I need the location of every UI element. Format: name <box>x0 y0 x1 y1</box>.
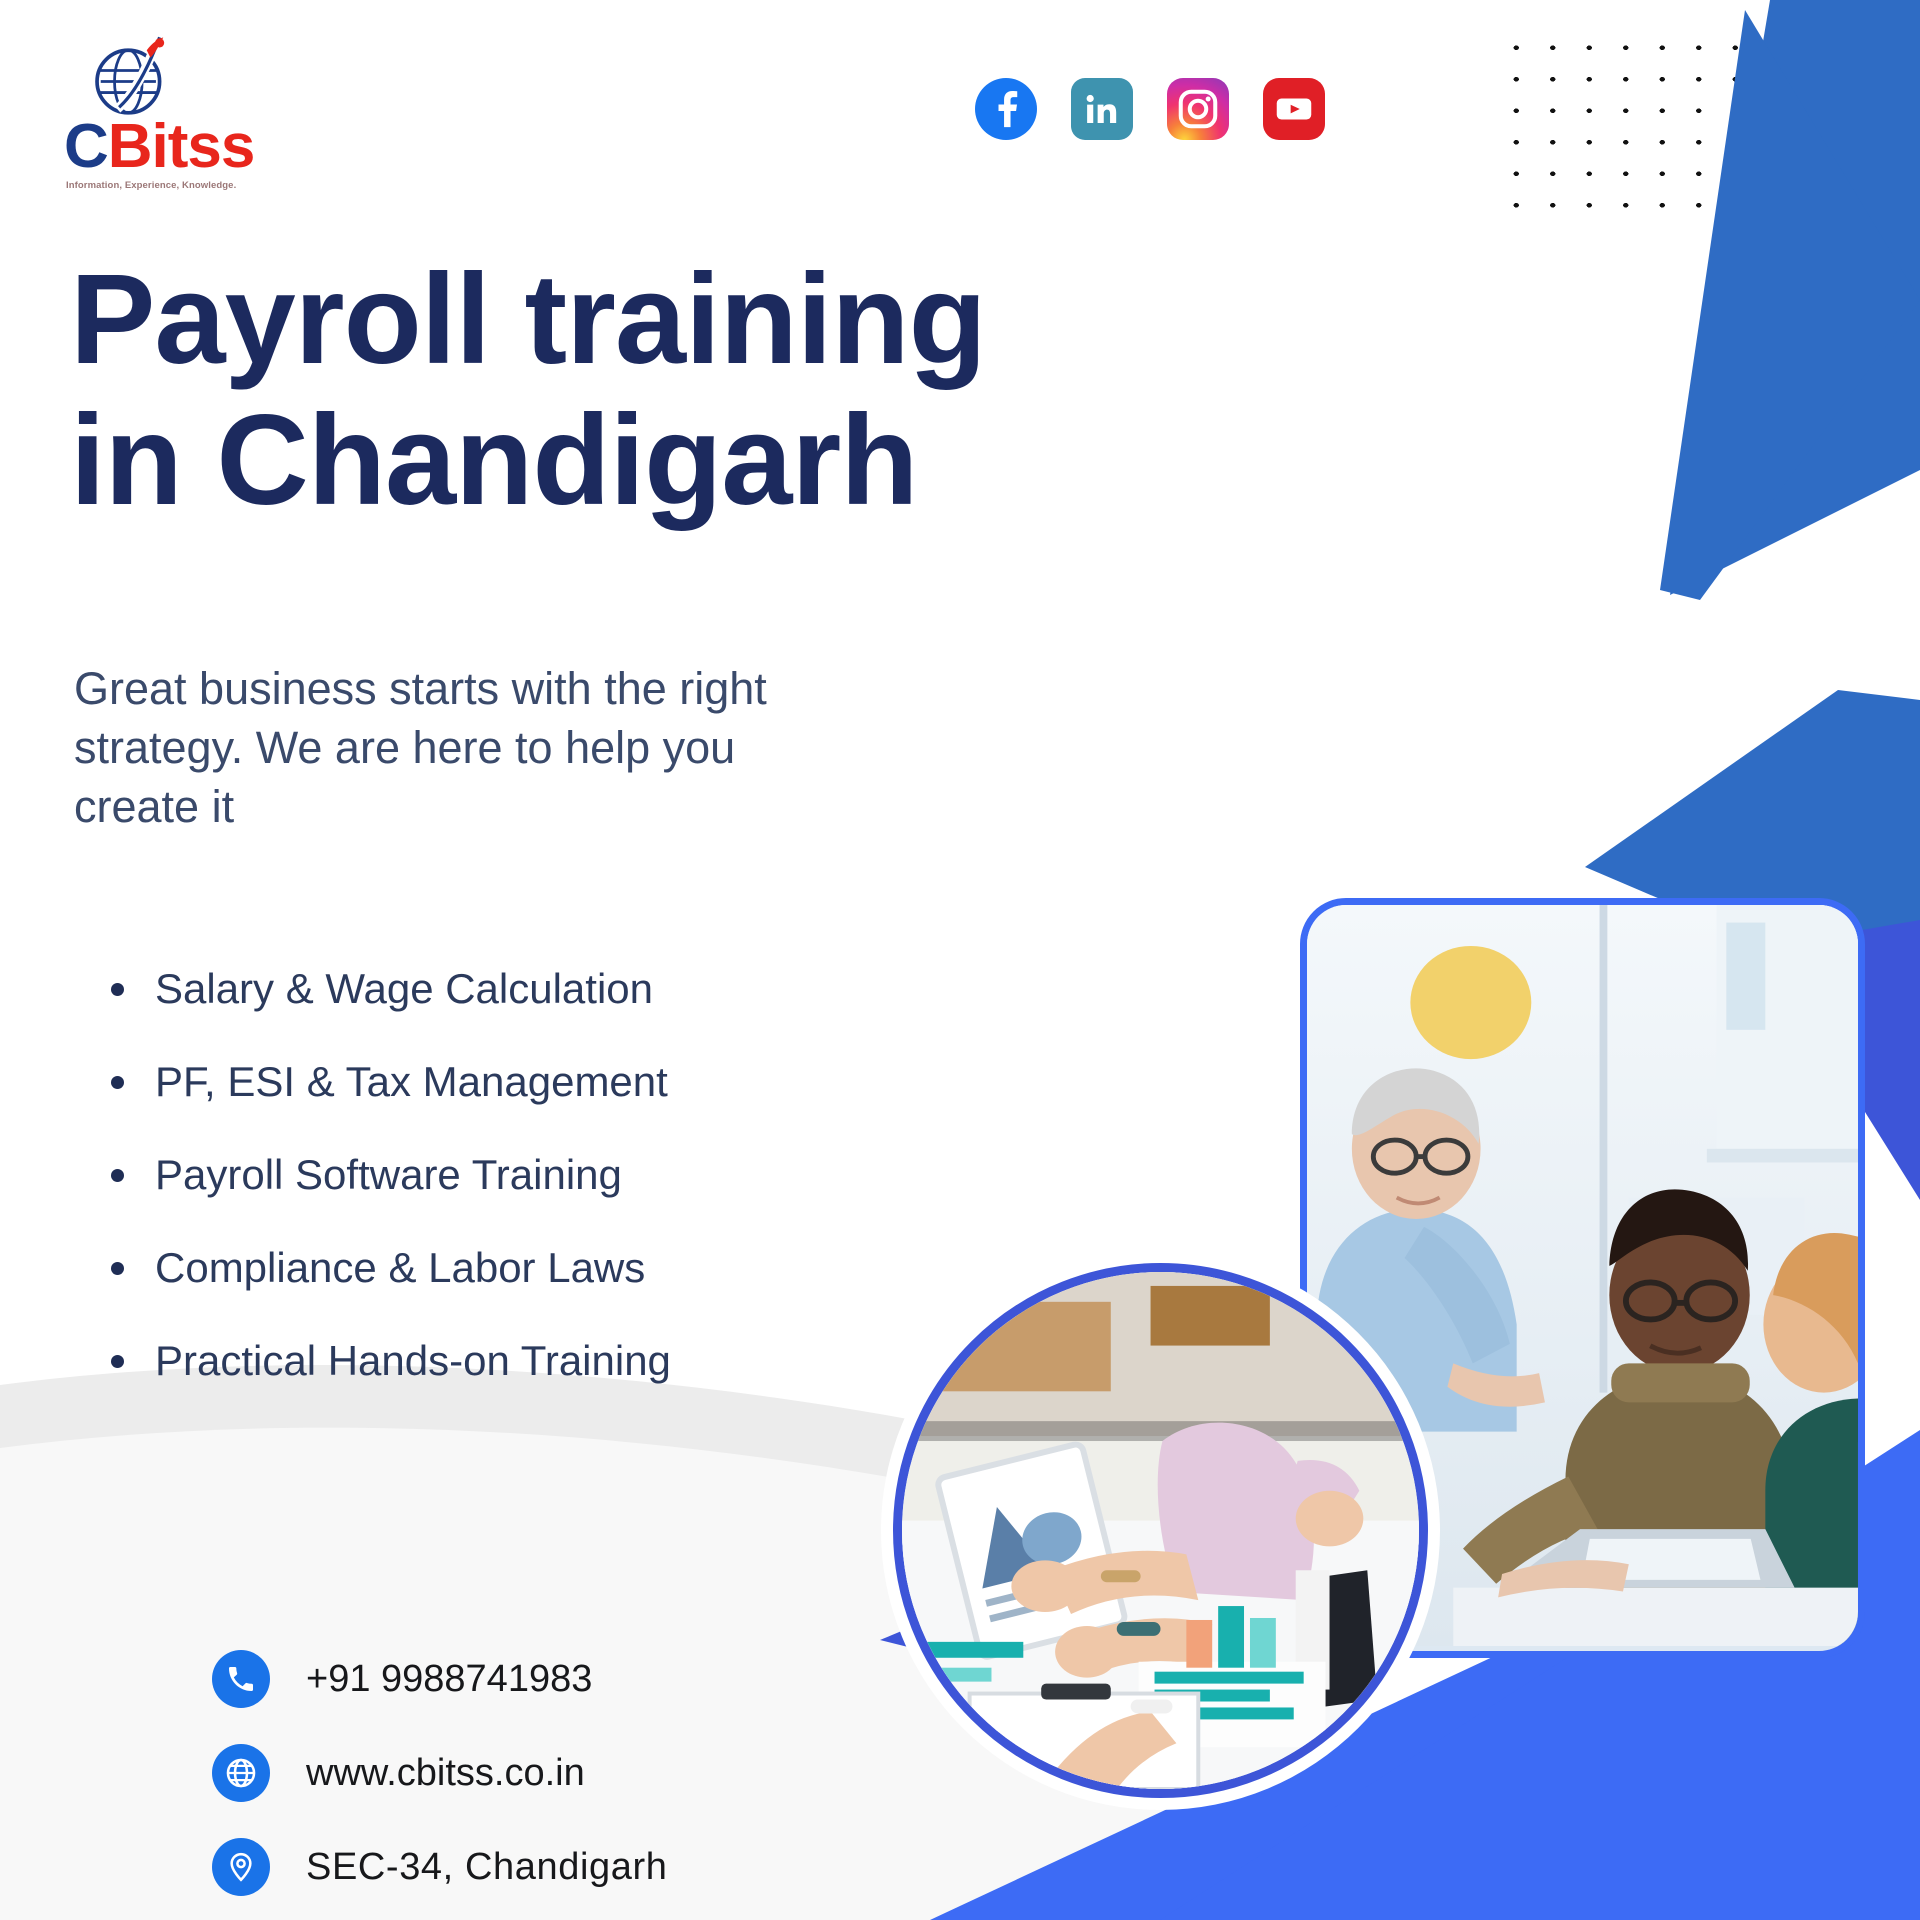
dot-grid-pattern <box>1498 32 1828 222</box>
contact-row-website[interactable]: www.cbitss.co.in <box>212 1744 667 1802</box>
brand-logo[interactable]: CBitss Information, Experience, Knowledg… <box>46 30 246 205</box>
linkedin-glyph <box>1081 88 1123 130</box>
facebook-glyph <box>975 78 1037 140</box>
contact-row-phone[interactable]: +91 9988741983 <box>212 1650 667 1708</box>
logo-letter-c: C <box>64 112 108 181</box>
list-item: Practical Hands-on Training <box>100 1337 860 1384</box>
phone-number: +91 9988741983 <box>306 1658 592 1701</box>
list-item: PF, ESI & Tax Management <box>100 1058 860 1105</box>
instagram-icon[interactable] <box>1167 78 1229 140</box>
headline-line-1: Payroll training <box>70 250 1320 391</box>
contact-row-address[interactable]: SEC-34, Chandigarh <box>212 1838 667 1896</box>
page-title: Payroll training in Chandigarh <box>70 250 1320 532</box>
facebook-icon[interactable] <box>975 78 1037 140</box>
hero-subtitle: Great business starts with the right str… <box>74 660 804 837</box>
linkedin-icon[interactable] <box>1071 78 1133 140</box>
youtube-icon[interactable] <box>1263 78 1325 140</box>
globe-glyph <box>224 1756 258 1790</box>
list-item: Compliance & Labor Laws <box>100 1244 860 1291</box>
social-icon-bar <box>975 78 1325 140</box>
globe-icon <box>212 1744 270 1802</box>
contact-block: +91 9988741983 www.cbitss.co.in SEC-34, … <box>212 1650 667 1920</box>
documents-review-photo <box>893 1263 1428 1798</box>
poster-canvas: CBitss Information, Experience, Knowledg… <box>0 0 1920 1920</box>
list-item: Payroll Software Training <box>100 1151 860 1198</box>
feature-list: Salary & Wage Calculation PF, ESI & Tax … <box>100 965 860 1430</box>
documents-review-photo-art <box>902 1272 1419 1789</box>
location-pin-icon <box>212 1838 270 1896</box>
address-text: SEC-34, Chandigarh <box>306 1846 667 1889</box>
website-url: www.cbitss.co.in <box>306 1752 585 1795</box>
headline-line-2: in Chandigarh <box>70 391 1320 532</box>
logo-word-bitss: Bitss <box>108 112 255 181</box>
logo-tagline: Information, Experience, Knowledge. <box>66 180 246 191</box>
phone-glyph <box>225 1663 257 1695</box>
globe-swoosh-icon <box>86 30 178 122</box>
location-pin-glyph <box>225 1851 257 1883</box>
logo-wordmark: CBitss <box>64 116 244 178</box>
instagram-glyph <box>1175 86 1221 132</box>
list-item: Salary & Wage Calculation <box>100 965 860 1012</box>
youtube-glyph <box>1271 86 1317 132</box>
phone-icon <box>212 1650 270 1708</box>
